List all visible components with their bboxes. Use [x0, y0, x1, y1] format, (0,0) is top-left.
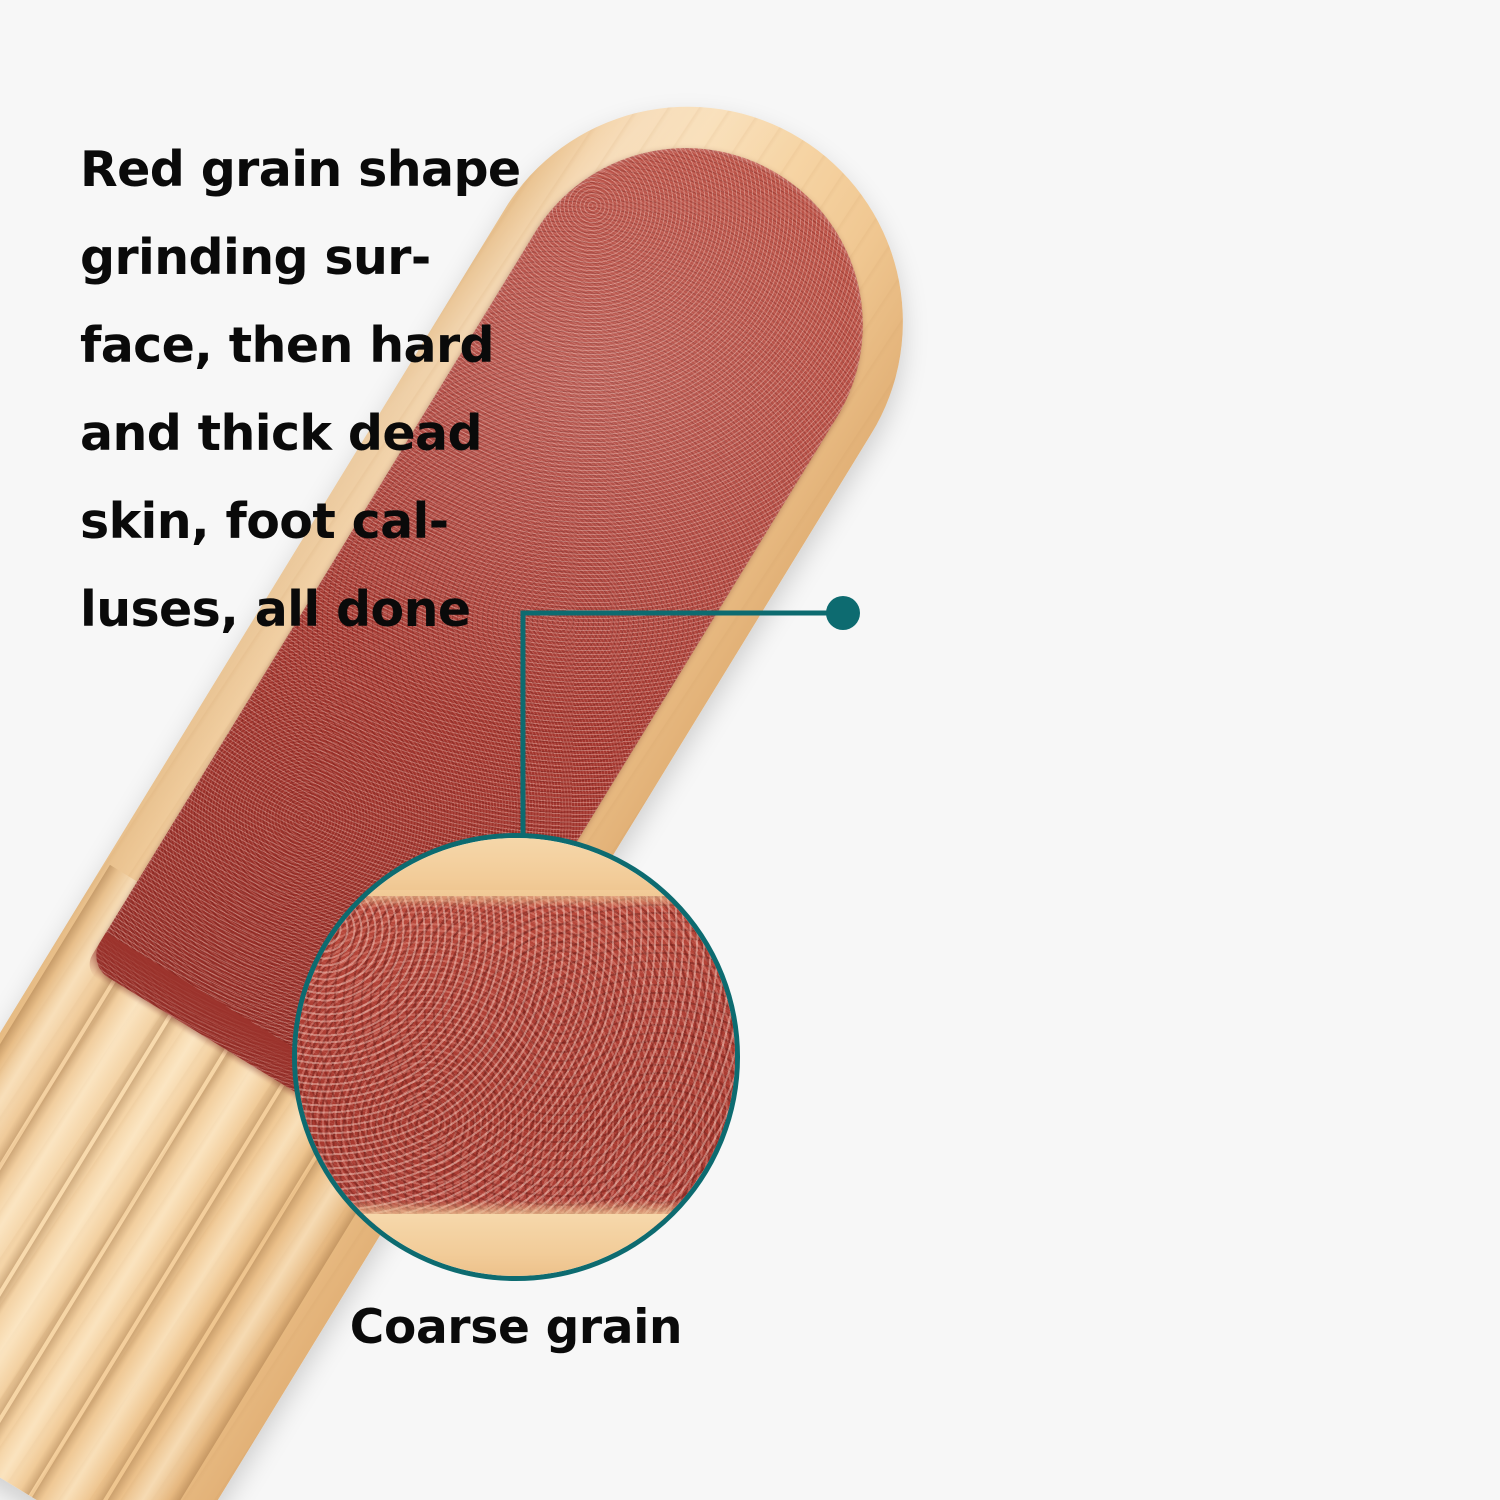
- feature-description-text: Red grain shape grinding sur- face, then…: [80, 126, 550, 654]
- magnified-grain-top-fade: [292, 890, 740, 908]
- magnified-coarse-grain: [292, 896, 740, 1230]
- magnified-wood-bottom-edge: [292, 1214, 740, 1280]
- magnifier-label: Coarse grain: [292, 1300, 740, 1355]
- magnified-detail-circle: [292, 833, 740, 1281]
- infographic-canvas: Red grain shape grinding sur- face, then…: [0, 0, 1500, 1500]
